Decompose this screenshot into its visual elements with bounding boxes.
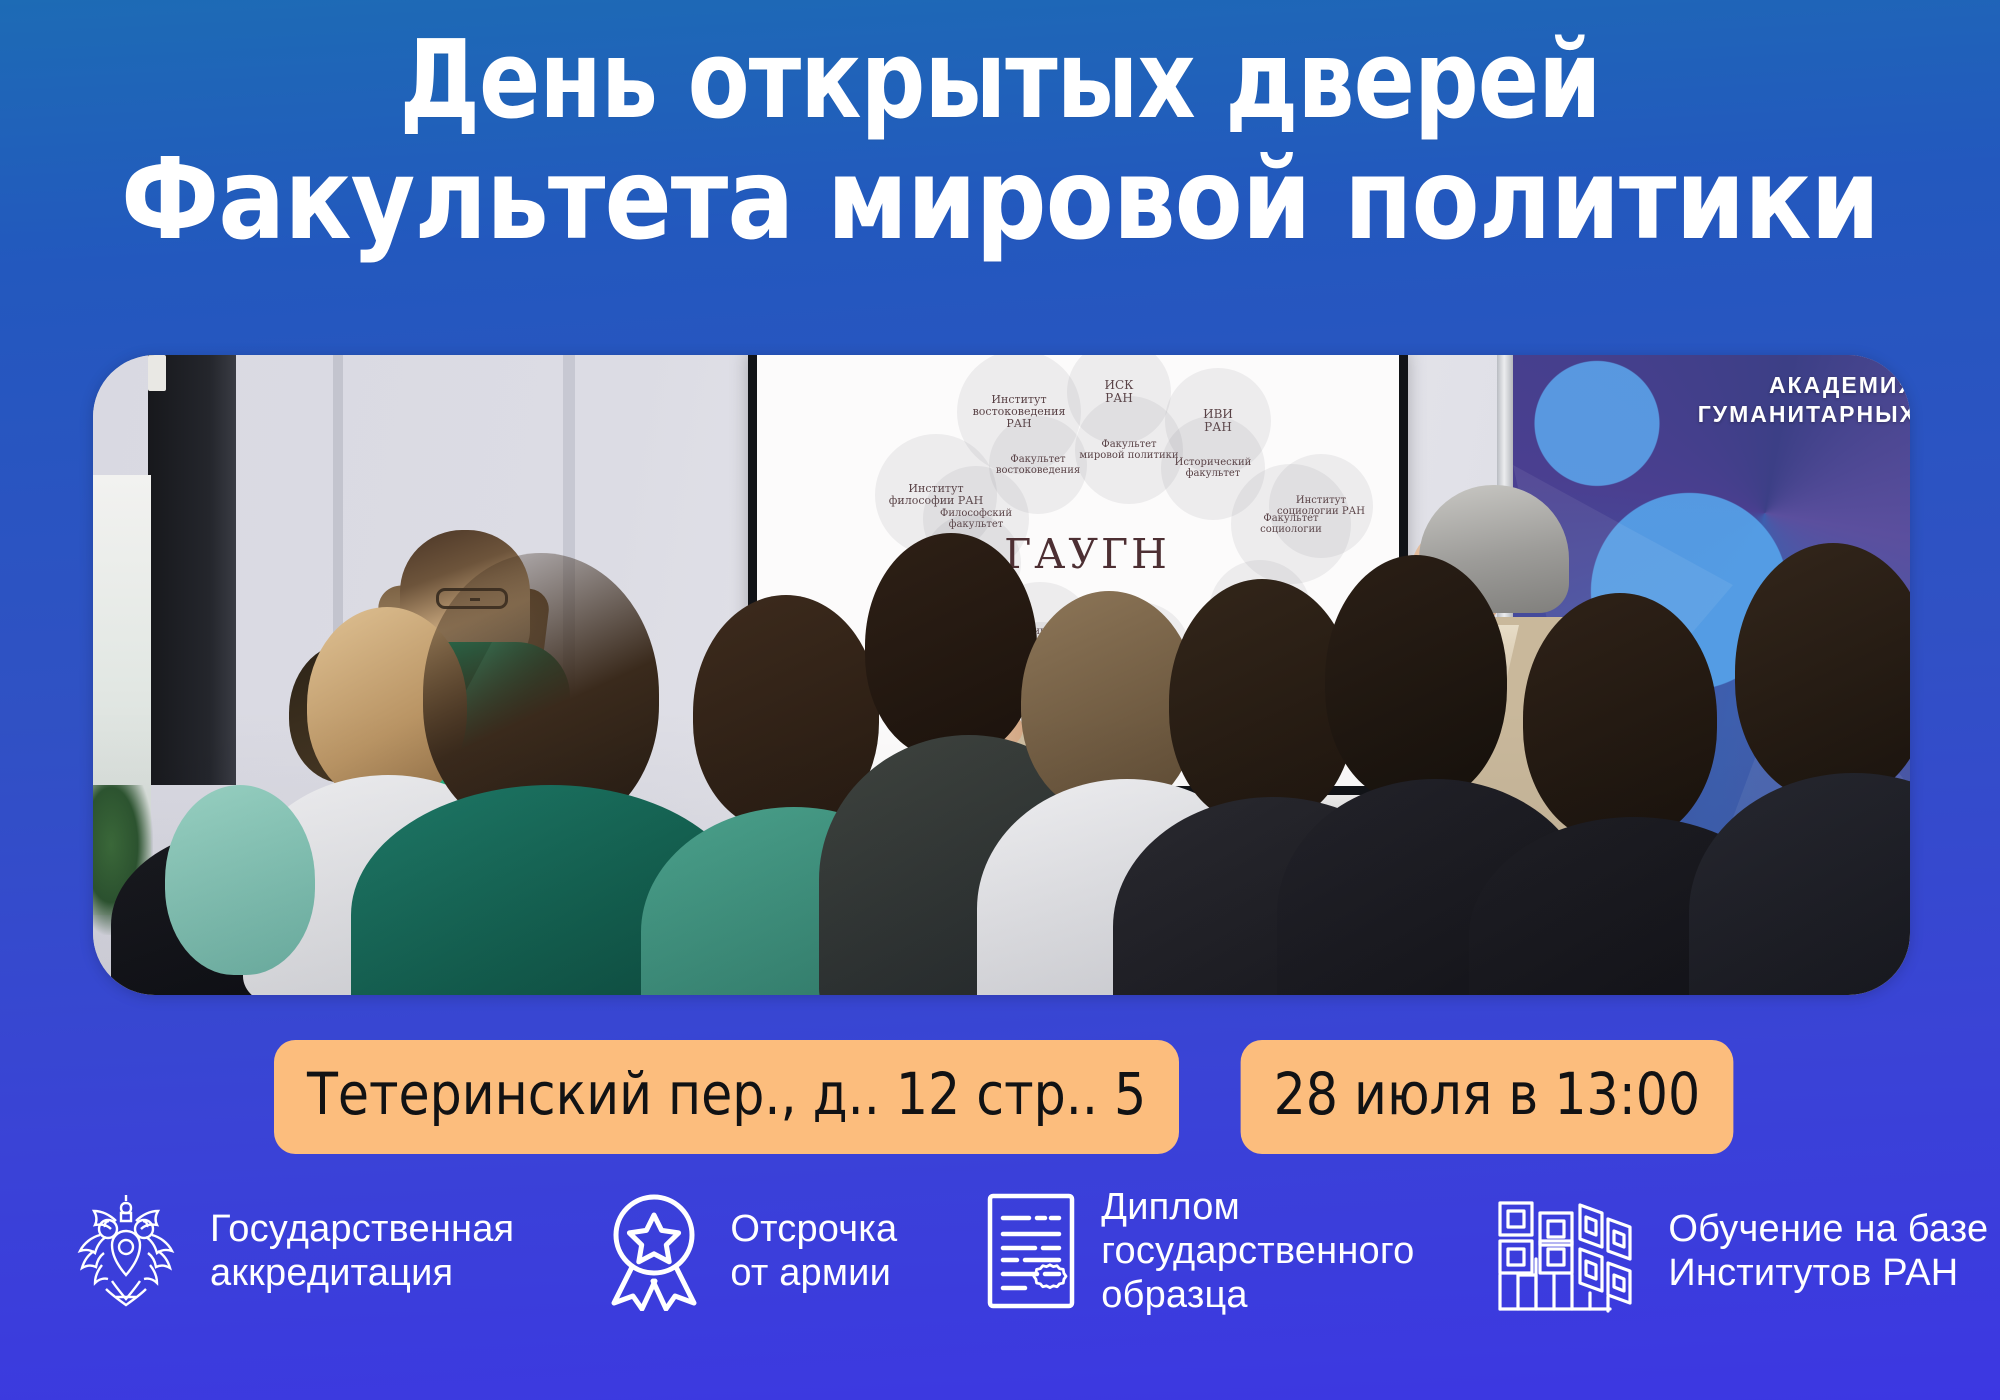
feature-list: Государственная аккредитация Отсрочка от…	[0, 1185, 2000, 1317]
banner-line-1: АКАДЕМИЯ	[1698, 371, 1910, 400]
info-pills: Тетеринский пер., д.. 12 стр.. 5 28 июля…	[0, 1040, 2000, 1154]
audience-shoulder	[165, 785, 315, 975]
address-pill[interactable]: Тетеринский пер., д.. 12 стр.. 5	[274, 1040, 1179, 1154]
title-line-1: День открытых дверей	[70, 22, 1930, 140]
feature-ran-institutes: Обучение на базе Институтов РАН	[1496, 1189, 1988, 1313]
feature-label: Диплом государственного образца	[1101, 1185, 1414, 1317]
award-ribbon-icon	[600, 1191, 708, 1311]
slide-center-label: ГАУГН	[757, 530, 1399, 578]
dark-doorway	[148, 355, 236, 785]
feature-label: Отсрочка от армии	[730, 1207, 897, 1295]
datetime-pill[interactable]: 28 июля в 13:00	[1240, 1040, 1733, 1154]
banner-line-2: ГУМАНИТАРНЫХ	[1698, 400, 1910, 429]
russian-coat-of-arms-icon	[64, 1189, 188, 1313]
wall-switch	[148, 355, 166, 391]
audience-head	[1325, 555, 1507, 803]
audience-head	[865, 533, 1037, 759]
feature-label: Государственная аккредитация	[210, 1207, 514, 1295]
audience-head	[1523, 593, 1717, 843]
title-line-2: Факультета мировой политики	[15, 140, 1985, 260]
feature-state-diploma: Диплом государственного образца	[983, 1185, 1414, 1317]
banner-text: АКАДЕМИЯ ГУМАНИТАРНЫХ	[1698, 371, 1910, 430]
institute-building-icon	[1496, 1189, 1646, 1313]
page-title: День открытых дверей Факультета мировой …	[0, 22, 2000, 260]
event-photo: АКАДЕМИЯ ГУМАНИТАРНЫХ Институт востокове…	[93, 355, 1910, 995]
feature-label: Обучение на базе Институтов РАН	[1668, 1207, 1988, 1295]
feature-state-accreditation: Государственная аккредитация	[64, 1189, 514, 1313]
feature-army-deferment: Отсрочка от армии	[600, 1191, 897, 1311]
certificate-document-icon	[983, 1190, 1079, 1312]
